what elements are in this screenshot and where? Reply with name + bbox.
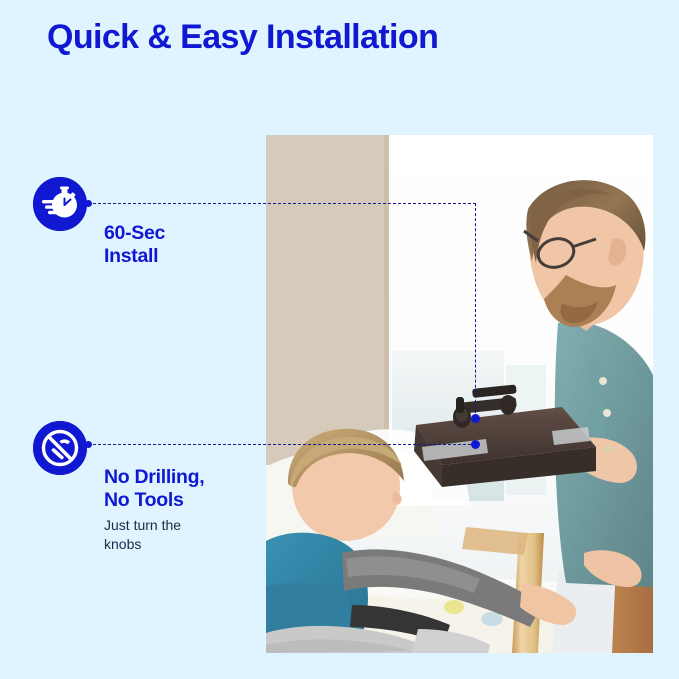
page-title: Quick & Easy Installation bbox=[47, 18, 438, 57]
connector-line-60-sec-install-vertical bbox=[475, 203, 476, 418]
no-tools-prohibited-icon bbox=[33, 421, 87, 475]
feature-badge-60-sec-install bbox=[33, 177, 87, 231]
connector-line-60-sec-install-horizontal bbox=[88, 203, 476, 204]
stopwatch-speed-icon bbox=[33, 177, 87, 231]
connector-line-no-drilling-horizontal bbox=[88, 444, 476, 445]
feature-subtext-no-drilling-no-tools: Just turn the knobs bbox=[104, 516, 204, 554]
feature-badge-no-drilling-no-tools bbox=[33, 421, 87, 475]
feature-heading-60-sec-install: 60-Sec Install bbox=[104, 222, 165, 268]
connector-endpoint-dot-60-sec-install bbox=[471, 414, 480, 423]
connector-endpoint-dot-no-drilling bbox=[471, 440, 480, 449]
installation-photo bbox=[266, 135, 653, 653]
feature-text-no-drilling-no-tools: No Drilling, No Tools Just turn the knob… bbox=[104, 466, 204, 553]
feature-heading-no-drilling-no-tools: No Drilling, No Tools bbox=[104, 466, 204, 512]
photo-illustration bbox=[266, 135, 653, 653]
feature-text-60-sec-install: 60-Sec Install bbox=[104, 222, 165, 268]
infographic-page: Quick & Easy Installation bbox=[0, 0, 679, 679]
